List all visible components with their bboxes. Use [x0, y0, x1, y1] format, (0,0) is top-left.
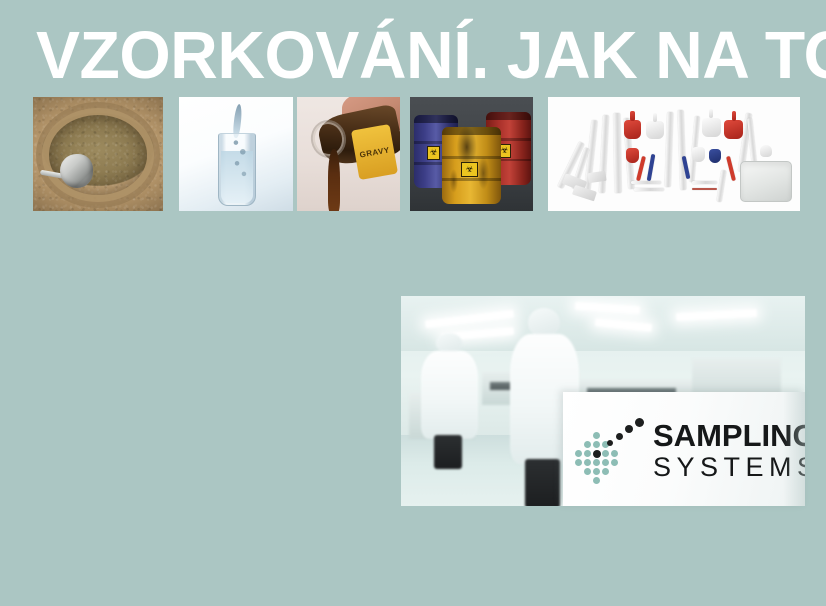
- photo-hazard-drums: [410, 97, 533, 211]
- logo-wordmark: SAMPLING SYSTEMS: [653, 420, 805, 482]
- drum-yellow: [442, 127, 501, 205]
- hairnet-icon: [528, 308, 560, 337]
- sampling-systems-logo-icon: [575, 418, 647, 484]
- biohazard-icon: [461, 162, 478, 176]
- logo-line-sampling: SAMPLING: [653, 420, 805, 452]
- scoop-bowl: [60, 154, 93, 188]
- scoop-icon: [41, 154, 101, 188]
- water-splash: [229, 138, 252, 184]
- jar-label: GRAVY: [351, 124, 398, 180]
- sample-tray: [740, 161, 792, 202]
- photo-sampling-tools: [548, 97, 800, 211]
- biohazard-icon: [427, 146, 441, 160]
- photo-grain-sack: [33, 97, 163, 211]
- page-title: VZORKOVÁNÍ. JAK NA TO?: [36, 20, 785, 92]
- logo-panel: SAMPLING SYSTEMS: [563, 392, 805, 506]
- logo-line-systems: SYSTEMS: [653, 452, 805, 482]
- photo-gravy-pour: GRAVY: [297, 97, 400, 211]
- gravy-stream: [328, 149, 340, 211]
- slide-canvas: VZORKOVÁNÍ. JAK NA TO? GRAVY: [0, 0, 826, 606]
- photo-water-glass: [179, 97, 293, 211]
- worker-background: [421, 351, 478, 439]
